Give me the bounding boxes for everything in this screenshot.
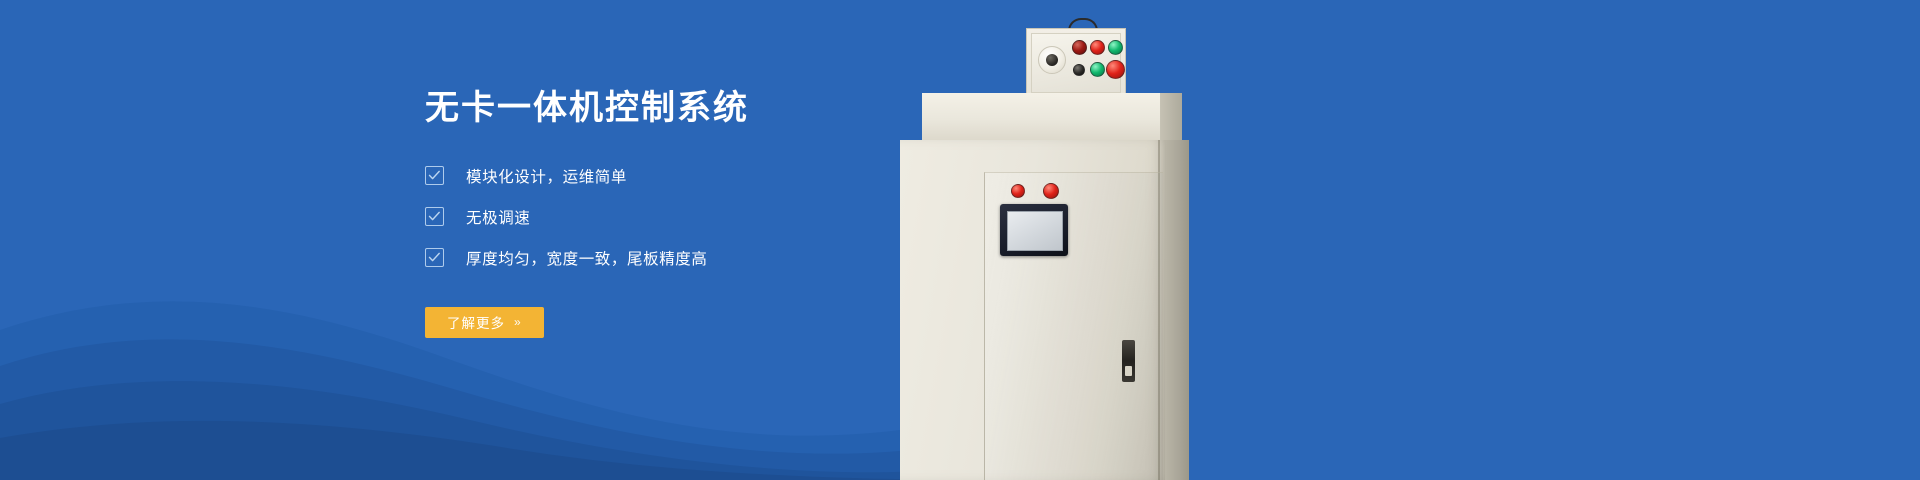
top-control-box bbox=[1026, 28, 1126, 98]
control-box-faceplate bbox=[1031, 33, 1121, 93]
list-item: 厚度均匀，宽度一致，尾板精度高 bbox=[425, 247, 945, 269]
door-lamp-red-small[interactable] bbox=[1011, 184, 1025, 198]
check-icon bbox=[425, 248, 444, 267]
cabinet-top-cap-side bbox=[1160, 93, 1182, 141]
check-icon bbox=[425, 207, 444, 226]
hmi-screen-surface[interactable] bbox=[1007, 211, 1063, 251]
learn-more-label: 了解更多 bbox=[447, 312, 505, 332]
feature-label: 无极调速 bbox=[466, 206, 530, 228]
door-handle[interactable] bbox=[1122, 340, 1135, 382]
selector-knob-small[interactable] bbox=[1073, 64, 1085, 76]
list-item: 无极调速 bbox=[425, 206, 945, 228]
emergency-stop-button[interactable] bbox=[1106, 60, 1125, 79]
rotary-selector-knob[interactable] bbox=[1038, 46, 1066, 74]
feature-label: 模块化设计，运维简单 bbox=[466, 165, 627, 187]
feature-label: 厚度均匀，宽度一致，尾板精度高 bbox=[466, 247, 708, 269]
indicator-lamp-green[interactable] bbox=[1108, 40, 1123, 55]
push-button-green[interactable] bbox=[1090, 62, 1105, 77]
cabinet-top-cap bbox=[922, 93, 1160, 141]
knob-stem bbox=[1046, 54, 1058, 66]
chevron-right-icon: » bbox=[514, 315, 522, 329]
hero-copy-block: 无卡一体机控制系统 模块化设计，运维简单 无极调速 bbox=[425, 88, 945, 338]
door-lamp-red-large[interactable] bbox=[1043, 183, 1059, 199]
hero-banner: 无卡一体机控制系统 模块化设计，运维简单 无极调速 bbox=[0, 0, 1920, 480]
control-cabinet-illustration bbox=[900, 0, 1300, 480]
page-title: 无卡一体机控制系统 bbox=[425, 88, 945, 129]
indicator-lamp-red[interactable] bbox=[1090, 40, 1105, 55]
feature-list: 模块化设计，运维简单 无极调速 厚度均匀，宽度一致，尾板精度高 bbox=[425, 165, 945, 269]
list-item: 模块化设计，运维简单 bbox=[425, 165, 945, 187]
check-icon bbox=[425, 166, 444, 185]
learn-more-button[interactable]: 了解更多 » bbox=[425, 307, 544, 338]
cabinet-right-side bbox=[1165, 140, 1189, 480]
indicator-lamp-dark-red[interactable] bbox=[1072, 40, 1087, 55]
hmi-touchscreen[interactable] bbox=[1000, 204, 1068, 256]
